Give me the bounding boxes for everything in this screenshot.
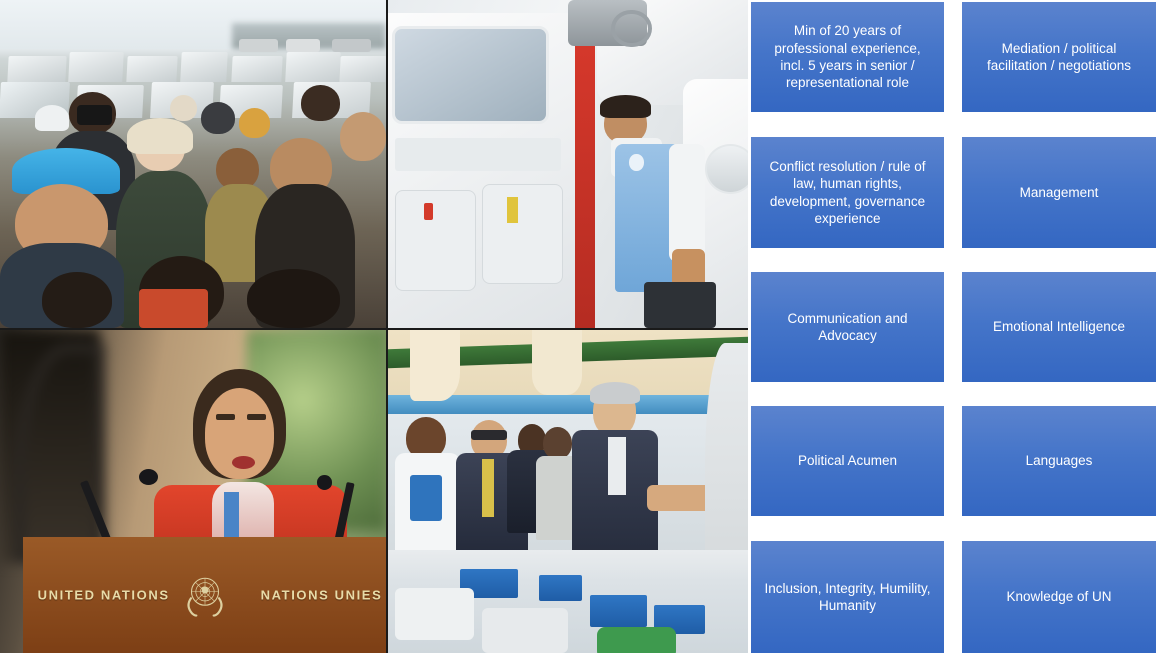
competency-box-mediation[interactable]: Mediation / political facilitation / neg… xyxy=(962,2,1156,112)
competency-label: Communication and Advocacy xyxy=(761,310,934,345)
competency-label: Min of 20 years of professional experien… xyxy=(761,22,934,91)
photo-helicopter-un-staff xyxy=(388,0,748,328)
competency-box-languages[interactable]: Languages xyxy=(962,406,1156,516)
competency-box-knowledge-of-un[interactable]: Knowledge of UN xyxy=(962,541,1156,653)
competency-label: Emotional Intelligence xyxy=(993,318,1125,335)
photo-field-handshake xyxy=(388,330,748,653)
competency-label: Mediation / political facilitation / neg… xyxy=(972,40,1146,75)
un-emblem-icon xyxy=(178,568,232,622)
podium-text-left: UNITED NATIONS xyxy=(38,587,170,602)
competency-box-conflict-resolution[interactable]: Conflict resolution / rule of law, human… xyxy=(751,137,944,248)
competency-label: Inclusion, Integrity, Humility, Humanity xyxy=(761,580,934,615)
competency-box-inclusion-integrity[interactable]: Inclusion, Integrity, Humility, Humanity xyxy=(751,541,944,653)
photo-collage: UNITED NATIONS NATIONS UNIES xyxy=(0,0,748,653)
competency-label: Knowledge of UN xyxy=(1006,588,1111,605)
podium-text-right: NATIONS UNIES xyxy=(261,587,383,602)
competency-box-management[interactable]: Management xyxy=(962,137,1156,248)
competency-label: Management xyxy=(1020,184,1099,201)
competency-box-emotional-intelligence[interactable]: Emotional Intelligence xyxy=(962,272,1156,382)
photo-refugee-camp-visit xyxy=(0,0,386,328)
competency-box-experience[interactable]: Min of 20 years of professional experien… xyxy=(751,2,944,112)
competency-label: Political Acumen xyxy=(798,452,897,469)
competency-label: Conflict resolution / rule of law, human… xyxy=(761,158,934,227)
podium-panel: UNITED NATIONS NATIONS UNIES xyxy=(23,537,386,653)
competency-box-communication-advocacy[interactable]: Communication and Advocacy xyxy=(751,272,944,382)
photo-podium-speaker: UNITED NATIONS NATIONS UNIES xyxy=(0,330,386,653)
competency-box-political-acumen[interactable]: Political Acumen xyxy=(751,406,944,516)
slide-canvas: UNITED NATIONS NATIONS UNIES xyxy=(0,0,1160,653)
competency-panel: Min of 20 years of professional experien… xyxy=(748,0,1160,653)
competency-label: Languages xyxy=(1026,452,1093,469)
